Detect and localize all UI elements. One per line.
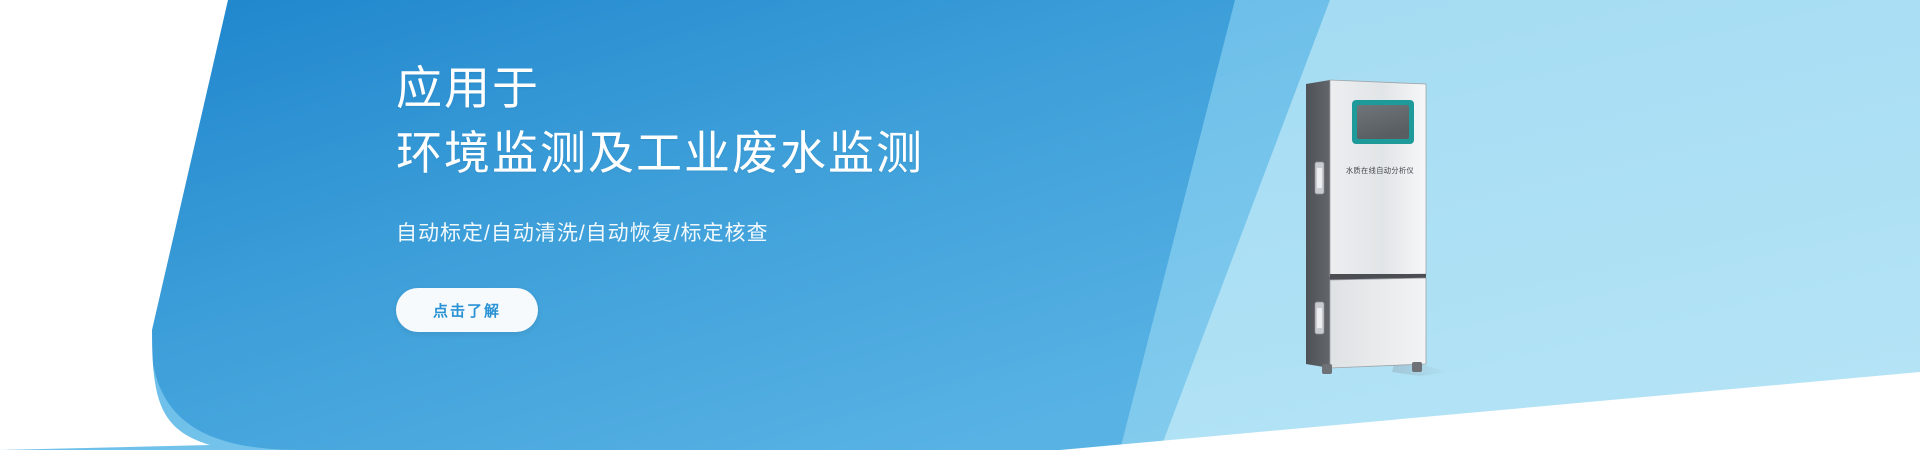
device-caster-left [1322,364,1332,374]
banner-subheadline: 自动标定/自动清洗/自动恢复/标定核查 [396,219,1156,248]
device-label: 水质在线自动分析仪 [1346,166,1414,175]
headline-line-1: 应用于 [396,56,1156,121]
device-screen [1357,105,1409,139]
hero-banner: 水质在线自动分析仪 应用于 环境监测及工业废水监测 自动标定/自动清洗/自动恢复… [0,0,1920,450]
cta-container: 点击了解 [396,288,1156,332]
page-title: 应用于 环境监测及工业废水监测 [396,56,1156,187]
device-lower-body [1330,278,1426,368]
learn-more-button[interactable]: 点击了解 [396,288,538,332]
banner-content: 应用于 环境监测及工业废水监测 自动标定/自动清洗/自动恢复/标定核查 点击了解 [396,56,1156,332]
headline-line-2: 环境监测及工业废水监测 [396,121,1156,186]
device-caster-right [1412,362,1422,372]
product-device-image: 水质在线自动分析仪 [1300,76,1436,376]
